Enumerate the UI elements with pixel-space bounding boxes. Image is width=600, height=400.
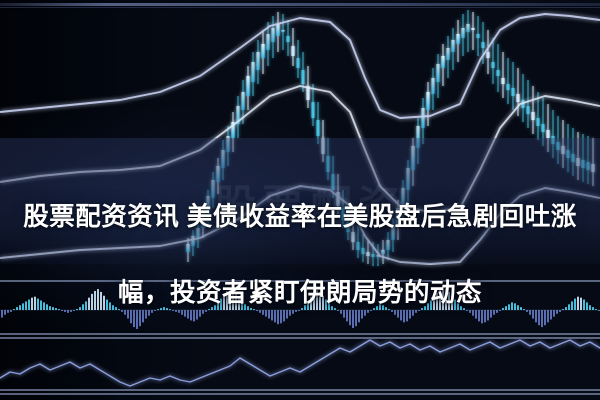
top-divider-line-2: [0, 7, 600, 8]
stock-news-banner: 股票配资 股票配资资讯 美债收益率在美股盘后急剧回吐涨 幅，投资者紧盯伊朗局势的…: [0, 0, 600, 400]
macd-histogram-series: [1, 286, 600, 329]
top-divider-line: [0, 3, 600, 6]
headline-backdrop-band: [0, 138, 600, 264]
bollinger-upper-band: [0, 14, 600, 118]
oscillator-line-series: [0, 340, 600, 386]
